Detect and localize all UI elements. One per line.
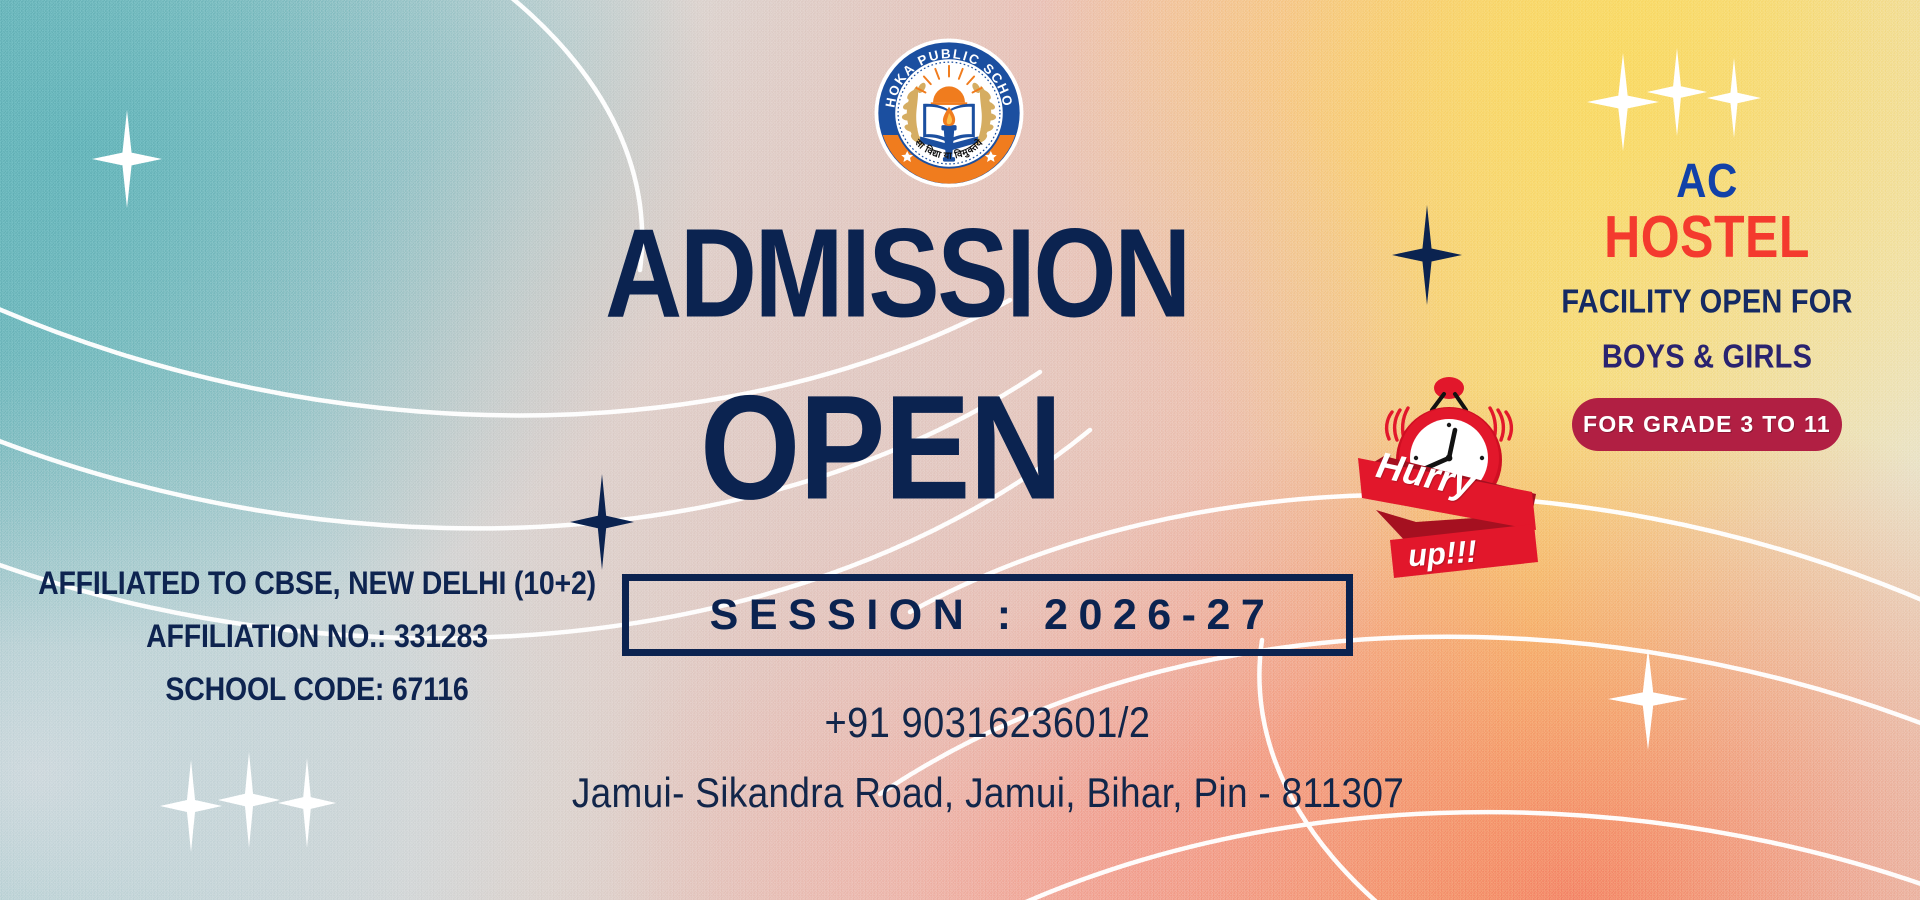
grade-range-label: FOR GRADE 3 TO 11 [1583,411,1831,438]
hostel-title: HOSTEL [1542,206,1872,268]
affiliation-row-3: SCHOOL CODE: 67116 [12,672,622,709]
affiliation-row-2: AFFILIATION NO.: 331283 [12,619,622,656]
page-title-line-1: ADMISSION [605,215,1189,331]
hostel-facility-line1: FACILITY OPEN FOR [1542,285,1872,319]
phone-number: +91 9031623601/2 [622,700,1353,748]
hostel-ac-label: AC [1542,157,1872,205]
affiliation-row-1: AFFILIATED TO CBSE, NEW DELHI (10+2) [12,566,622,603]
alarm-bell-icon [1432,377,1466,410]
hostel-info-panel: AC HOSTEL FACILITY OPEN FOR BOYS & GIRLS… [1542,160,1872,451]
address-line: Jamui- Sikandra Road, Jamui, Bihar, Pin … [472,770,1504,817]
grade-range-badge: FOR GRADE 3 TO 11 [1572,398,1842,451]
session-label: SESSION : 2026-27 [700,591,1276,640]
hostel-facility-line2: BOYS & GIRLS [1542,340,1872,374]
hurry-up-badge: Hurry up!!! [1356,372,1542,580]
school-logo: ASHOKA PUBLIC SCHOOL सा विद्या या विमुक्… [873,37,1025,189]
page-title-line-2: OPEN [700,380,1062,516]
session-box: SESSION : 2026-27 [622,574,1353,656]
affiliation-block: AFFILIATED TO CBSE, NEW DELHI (10+2) AFF… [12,568,622,707]
admission-banner: ASHOKA PUBLIC SCHOOL सा विद्या या विमुक्… [0,0,1920,900]
